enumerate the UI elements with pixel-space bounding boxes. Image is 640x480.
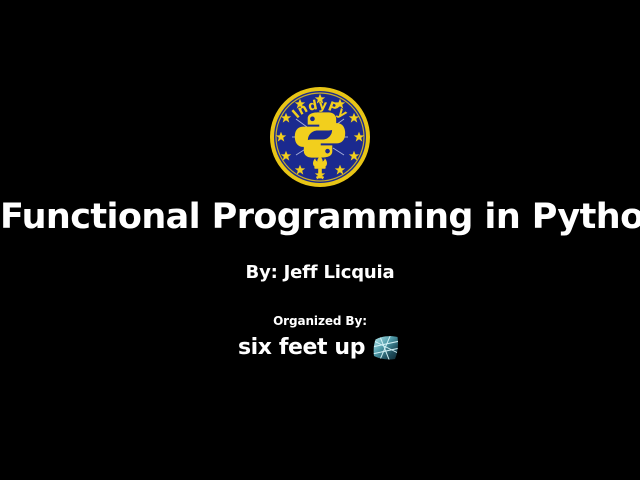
page-title: Functional Programming in Python bbox=[0, 196, 640, 238]
organizer-name: six feet up bbox=[238, 335, 365, 361]
sixfeetup-logo-icon bbox=[370, 332, 402, 364]
organizer-label: Organized By: bbox=[0, 314, 640, 329]
presenter-byline: By: Jeff Licquia bbox=[0, 261, 640, 285]
organizer-block: Organized By: six feet up bbox=[0, 314, 640, 364]
organizer-logo-row: six feet up bbox=[0, 332, 640, 364]
indypy-logo: IndyPy bbox=[266, 86, 374, 188]
presentation-slide: IndyPy Functional Programming in Python … bbox=[0, 0, 640, 480]
